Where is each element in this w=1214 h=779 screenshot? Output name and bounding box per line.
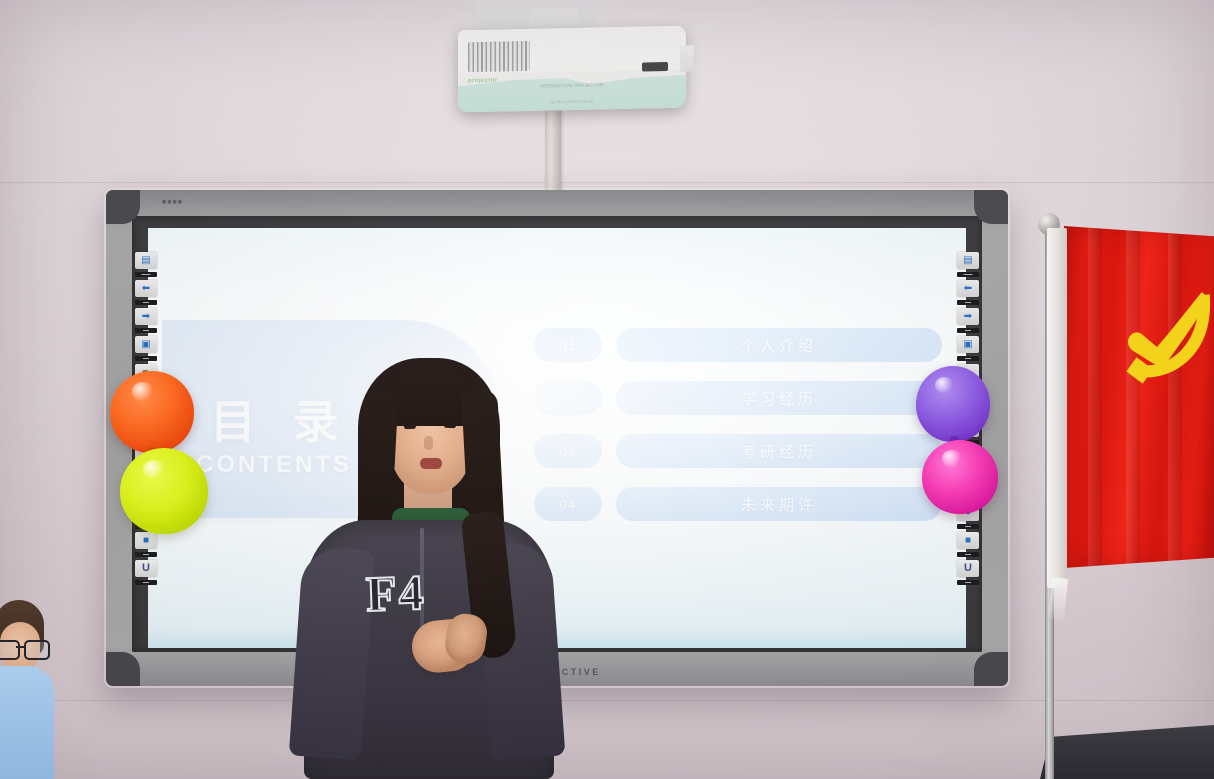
presenter-mouth	[420, 458, 442, 469]
audience-torso	[0, 666, 54, 779]
toolbar-button-usb-icon[interactable]: U	[957, 560, 979, 577]
projector-vent-grille	[468, 41, 530, 72]
toolbar-button-arrow-left-icon[interactable]: ⬅	[957, 280, 979, 297]
projector-side-panel	[680, 45, 694, 72]
frame-corner-bottom-right	[974, 652, 1008, 686]
page-icon: ▤	[963, 256, 972, 266]
toolbar-button-caption: ▬▬	[135, 328, 157, 333]
whiteboard-top-brand: ■■■■	[162, 199, 183, 206]
arrow-left-icon: ⬅	[964, 284, 972, 294]
toolbar-button-caption: ▬▬	[957, 300, 979, 305]
projector-brand-label: projector	[468, 78, 498, 85]
agenda-row: 02学习经历	[534, 381, 942, 415]
screen-icon: ▣	[141, 340, 150, 350]
flag-fold-1	[1088, 226, 1102, 568]
agenda-row: 01个人介绍	[534, 328, 942, 362]
toolbar-button-caption: ▬▬	[135, 552, 157, 557]
arrow-right-icon: ➡	[964, 312, 972, 322]
frame-corner-top-right	[974, 190, 1008, 224]
toolbar-button-caption: ▬▬▬	[135, 272, 157, 277]
toolbar-button-caption: ▬▬	[957, 580, 979, 585]
arrow-right-icon: ➡	[142, 312, 150, 322]
usb-icon: U	[964, 563, 972, 574]
agenda-row: 04未来期许	[534, 487, 942, 521]
frame-corner-bottom-left	[106, 652, 140, 686]
agenda-label-pill: 未来期许	[616, 487, 942, 521]
presenter-hoodie-text: F4	[365, 563, 427, 623]
glasses-icon	[0, 640, 48, 656]
flag-sleeve	[1047, 228, 1067, 588]
display-icon: ■	[965, 536, 971, 546]
presenter-arm-left	[289, 546, 375, 761]
toolbar-button-caption: ▬▬	[957, 356, 979, 361]
toolbar-button-screen-icon[interactable]: ▣	[957, 336, 979, 353]
hammer-and-sickle-emblem	[1112, 286, 1214, 404]
toolbar-button-usb-icon[interactable]: U	[135, 560, 157, 577]
projector-port	[642, 62, 668, 72]
balloon-purple	[916, 366, 990, 442]
toolbar-button-caption: ▬▬▬	[957, 272, 979, 277]
usb-icon: U	[142, 563, 150, 574]
glasses-lens-right	[24, 640, 50, 660]
balloon-yellow	[120, 448, 208, 534]
slide-agenda-list: 01个人介绍02学习经历03考研经历04未来期许	[534, 328, 942, 521]
toolbar-button-page-icon[interactable]: ▤	[957, 252, 979, 269]
toolbar-button-caption: ▬▬	[957, 328, 979, 333]
balloon-orange	[110, 371, 194, 453]
presenter: F4	[296, 352, 558, 779]
classroom-scene: projector INTERACTIVE PROJECTOR ULTRA SH…	[0, 0, 1214, 779]
projector-accent-panel	[458, 66, 686, 113]
agenda-label-pill: 考研经历	[616, 434, 942, 468]
toolbar-button-display-icon[interactable]: ■	[957, 532, 979, 549]
audience-member	[0, 600, 58, 779]
agenda-row: 03考研经历	[534, 434, 942, 468]
glasses-lens-left	[0, 640, 20, 660]
toolbar-button-arrow-right-icon[interactable]: ➡	[135, 308, 157, 325]
agenda-label-pill: 学习经历	[616, 381, 942, 415]
toolbar-button-caption: ▬▬	[957, 552, 979, 557]
arrow-left-icon: ⬅	[142, 284, 150, 294]
toolbar-button-caption: ▬▬	[135, 580, 157, 585]
toolbar-button-arrow-right-icon[interactable]: ➡	[957, 308, 979, 325]
display-icon: ■	[143, 536, 149, 546]
page-icon: ▤	[141, 256, 150, 266]
projector-body: projector INTERACTIVE PROJECTOR ULTRA SH…	[458, 26, 686, 113]
toolbar-button-arrow-left-icon[interactable]: ⬅	[135, 280, 157, 297]
toolbar-button-caption: ▬▬	[135, 300, 157, 305]
wall-seam-lower	[0, 700, 1214, 701]
toolbar-button-screen-icon[interactable]: ▣	[135, 336, 157, 353]
toolbar-button-display-icon[interactable]: ■	[135, 532, 157, 549]
wall-seam-upper	[0, 182, 1214, 183]
presenter-nose	[424, 436, 433, 450]
toolbar-button-page-icon[interactable]: ▤	[135, 252, 157, 269]
agenda-label-pill: 个人介绍	[616, 328, 942, 362]
toolbar-button-caption: ▬▬	[957, 524, 979, 529]
balloon-pink	[922, 440, 998, 514]
toolbar-button-caption: ▬▬	[135, 356, 157, 361]
screen-icon: ▣	[963, 340, 972, 350]
